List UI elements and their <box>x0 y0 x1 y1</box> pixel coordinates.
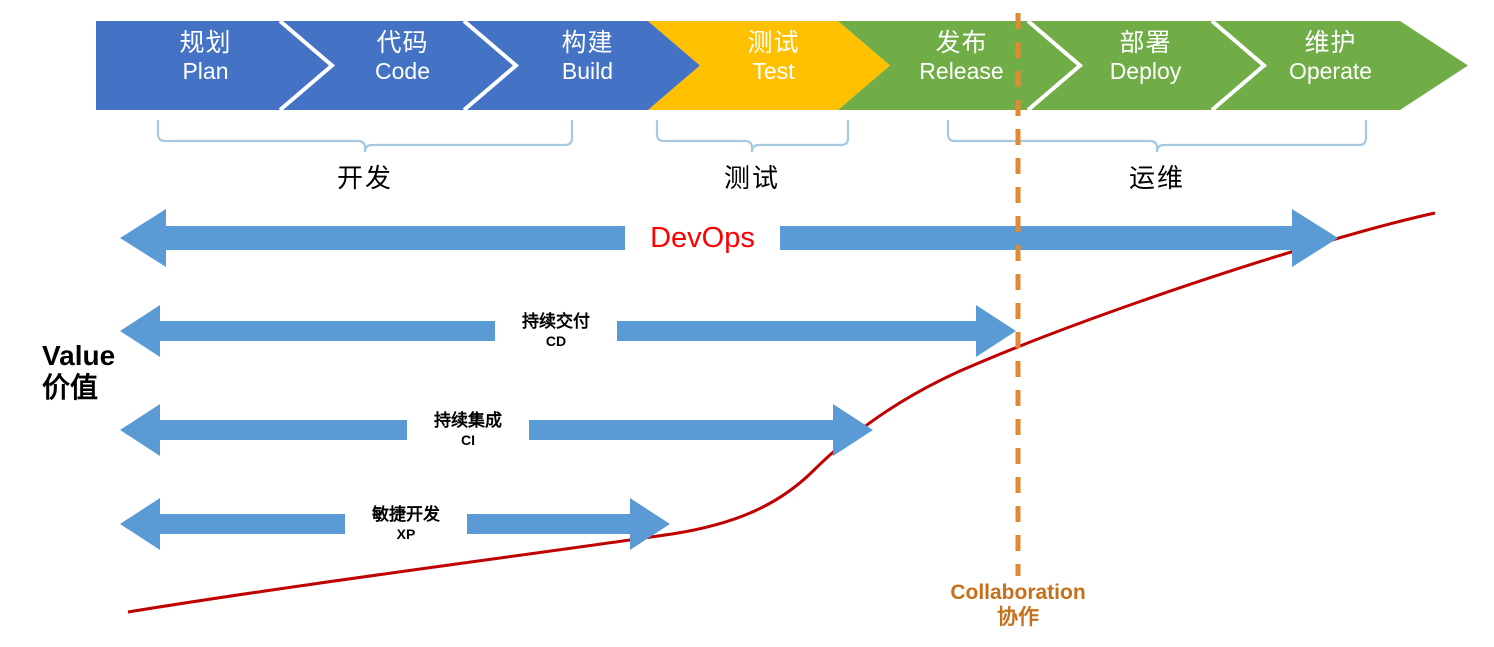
collaboration-label-cn: 协作 <box>918 605 1118 630</box>
diagram-canvas: 规划 Plan 代码 Code 构建 Build 测试 Test 发布 Rele… <box>0 0 1494 647</box>
collaboration-marker <box>0 0 1494 647</box>
collaboration-label: Collaboration 协作 <box>918 580 1118 630</box>
collaboration-label-en: Collaboration <box>918 580 1118 605</box>
